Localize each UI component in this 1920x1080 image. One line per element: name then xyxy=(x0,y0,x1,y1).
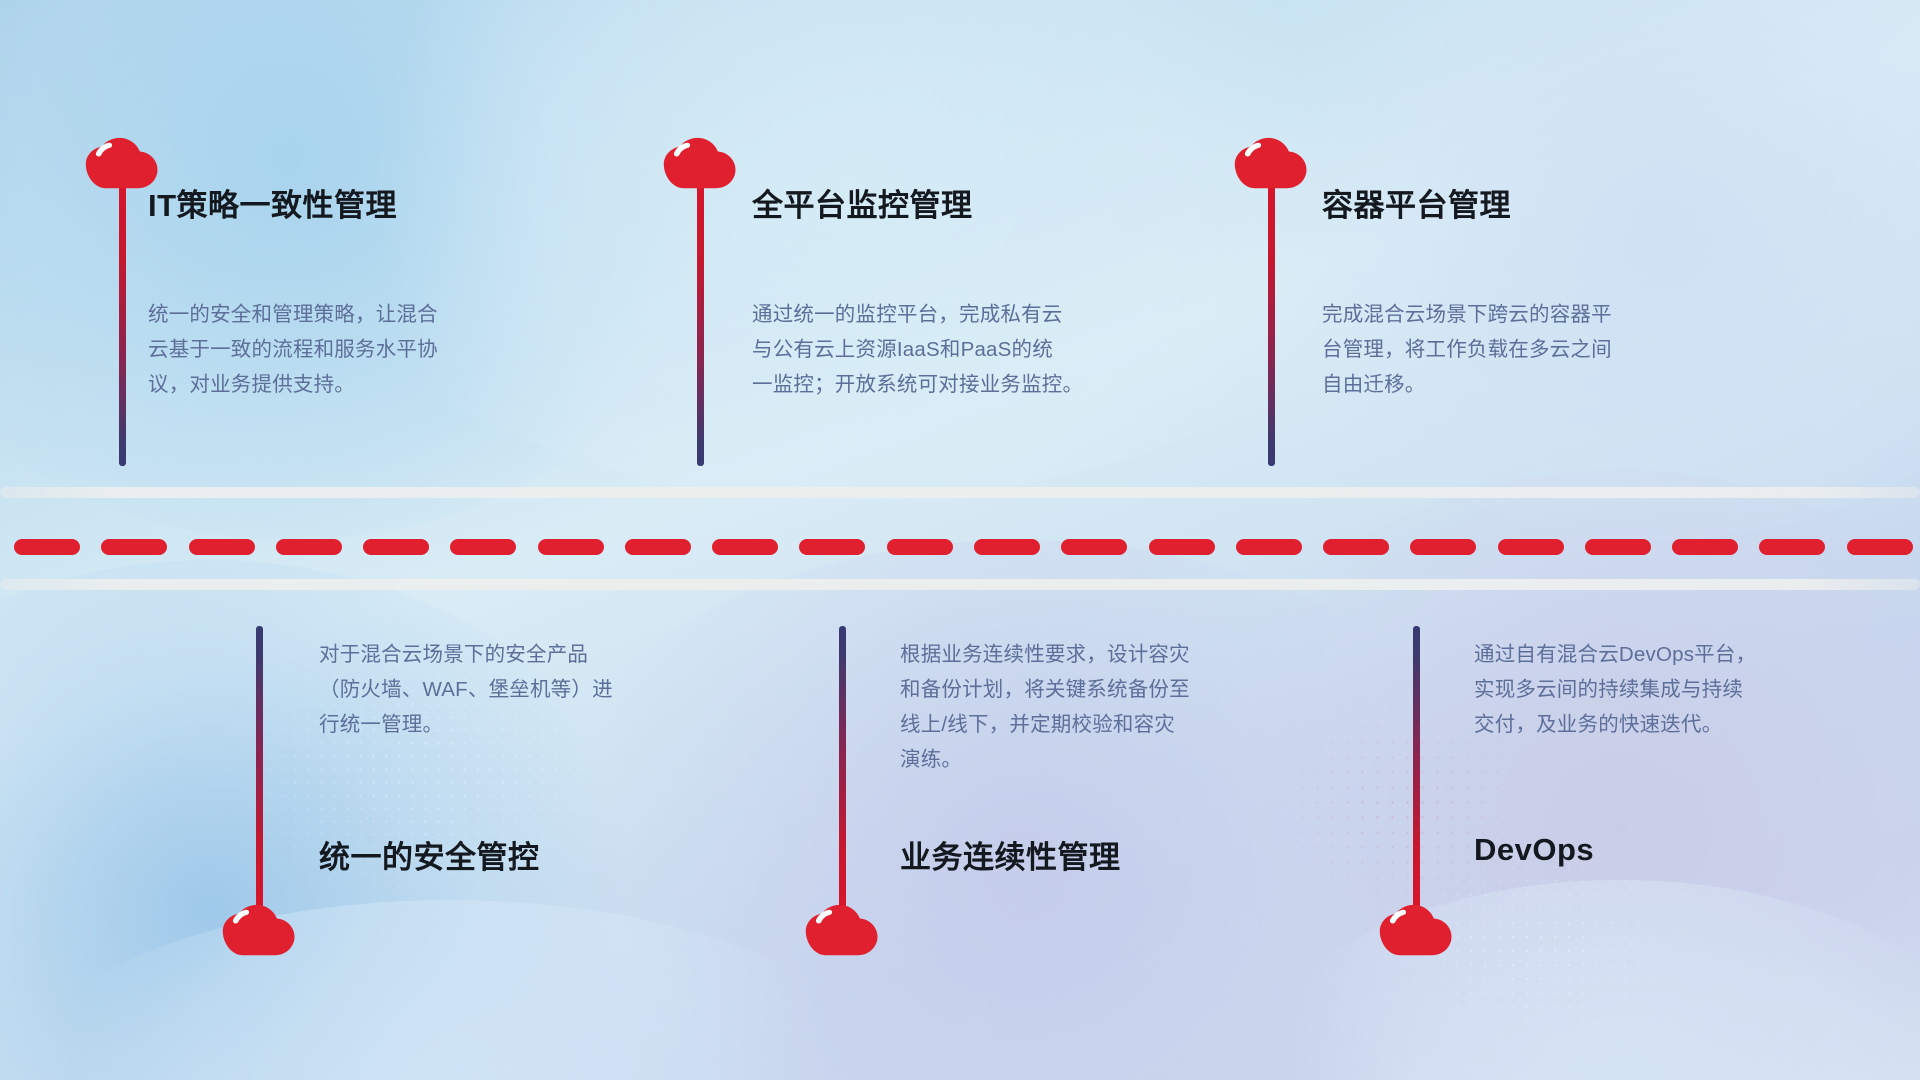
card-body-line: 通过统一的监控平台，完成私有云 xyxy=(752,297,1083,332)
card-body: 完成混合云场景下跨云的容器平 台管理，将工作负载在多云之间 自由迁移。 xyxy=(1322,297,1612,402)
road-dash xyxy=(14,539,80,555)
road-dash xyxy=(1061,539,1127,555)
card-body: 统一的安全和管理策略，让混合 云基于一致的流程和服务水平协 议，对业务提供支持。 xyxy=(148,297,438,402)
cloud-icon xyxy=(1234,131,1308,189)
card-body-line: 线上/线下，并定期校验和容灾 xyxy=(900,707,1190,742)
card-body: 通过统一的监控平台，完成私有云 与公有云上资源IaaS和PaaS的统 一监控；开… xyxy=(752,297,1083,402)
card-body-line: 议，对业务提供支持。 xyxy=(148,367,438,402)
background-bloom xyxy=(520,540,1520,1080)
card-body-line: 完成混合云场景下跨云的容器平 xyxy=(1322,297,1612,332)
background-bloom xyxy=(1180,470,1920,1080)
road-dash xyxy=(189,539,255,555)
card-body: 通过自有混合云DevOps平台， 实现多云间的持续集成与持续 交付，及业务的快速… xyxy=(1474,637,1756,742)
background-bloom xyxy=(0,0,740,540)
card-title: 容器平台管理 xyxy=(1322,180,1511,225)
card-body-line: 和备份计划，将关键系统备份至 xyxy=(900,672,1190,707)
background-bloom xyxy=(1250,0,1920,540)
road-dash xyxy=(1236,539,1302,555)
background-bloom xyxy=(300,0,1400,500)
card-title: 全平台监控管理 xyxy=(752,180,973,225)
infographic-canvas: IT策略一致性管理 统一的安全和管理策略，让混合 云基于一致的流程和服务水平协 … xyxy=(0,0,1920,1080)
card-body-line: 一监控；开放系统可对接业务监控。 xyxy=(752,367,1083,402)
road-dash xyxy=(1323,539,1389,555)
road-edge-line-bottom xyxy=(0,579,1920,590)
road-dash xyxy=(1847,539,1913,555)
card-body-line: 与公有云上资源IaaS和PaaS的统 xyxy=(752,332,1083,367)
road-dash xyxy=(887,539,953,555)
card-body-line: 自由迁移。 xyxy=(1322,367,1612,402)
card-body-line: 实现多云间的持续集成与持续 xyxy=(1474,672,1756,707)
card-title: IT策略一致性管理 xyxy=(148,180,397,225)
card-body-line: 统一的安全和管理策略，让混合 xyxy=(148,297,438,332)
pin-stem xyxy=(119,178,126,466)
background-bloom xyxy=(1240,880,1920,1080)
road-center-dashes xyxy=(0,539,1920,555)
pin-stem xyxy=(256,626,263,908)
road-dash xyxy=(1759,539,1825,555)
road-dash xyxy=(1498,539,1564,555)
card-body-line: 演练。 xyxy=(900,742,1190,777)
road-dash xyxy=(363,539,429,555)
road-dash xyxy=(712,539,778,555)
card-title: DevOps xyxy=(1474,832,1594,868)
road-dash xyxy=(1410,539,1476,555)
road-dash xyxy=(450,539,516,555)
pin-stem xyxy=(839,626,846,908)
dot-texture xyxy=(1380,860,1720,1080)
road-dash xyxy=(101,539,167,555)
background-bloom xyxy=(0,900,900,1080)
road-dash xyxy=(799,539,865,555)
card-body: 根据业务连续性要求，设计容灾 和备份计划，将关键系统备份至 线上/线下，并定期校… xyxy=(900,637,1190,777)
pin-stem xyxy=(1413,626,1420,908)
card-body-line: 根据业务连续性要求，设计容灾 xyxy=(900,637,1190,672)
pin-stem xyxy=(697,178,704,466)
cloud-icon xyxy=(805,898,879,956)
card-body-line: 云基于一致的流程和服务水平协 xyxy=(148,332,438,367)
road-dash xyxy=(625,539,691,555)
card-body-line: 对于混合云场景下的安全产品 xyxy=(319,637,613,672)
road-dash xyxy=(974,539,1040,555)
card-title: 业务连续性管理 xyxy=(900,832,1121,877)
cloud-icon xyxy=(222,898,296,956)
road-edge-line-top xyxy=(0,487,1920,498)
cloud-icon xyxy=(1379,898,1453,956)
road-dash xyxy=(276,539,342,555)
road-dash xyxy=(1149,539,1215,555)
card-body: 对于混合云场景下的安全产品 （防火墙、WAF、堡垒机等）进 行统一管理。 xyxy=(319,637,613,742)
card-body-line: （防火墙、WAF、堡垒机等）进 xyxy=(319,672,613,707)
card-body-line: 交付，及业务的快速迭代。 xyxy=(1474,707,1756,742)
card-body-line: 行统一管理。 xyxy=(319,707,613,742)
road-dash xyxy=(538,539,604,555)
pin-stem xyxy=(1268,178,1275,466)
card-body-line: 台管理，将工作负载在多云之间 xyxy=(1322,332,1612,367)
card-body-line: 通过自有混合云DevOps平台， xyxy=(1474,637,1756,672)
cloud-icon xyxy=(663,131,737,189)
road-dash xyxy=(1585,539,1651,555)
card-title: 统一的安全管控 xyxy=(319,832,540,877)
road-dash xyxy=(1672,539,1738,555)
